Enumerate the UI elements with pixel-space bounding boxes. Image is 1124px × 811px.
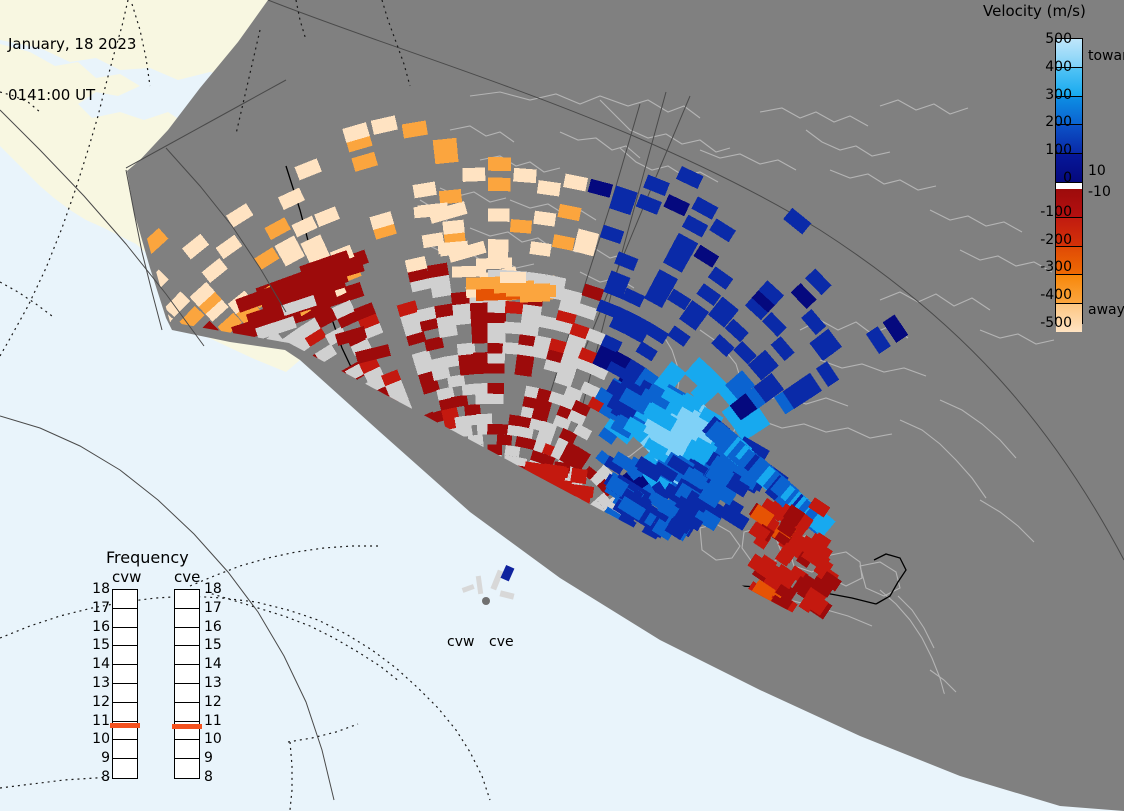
- colorbar-toward-label: toward: [1088, 49, 1124, 63]
- frequency-tick-label: 18: [88, 582, 110, 596]
- frequency-tick-label: 9: [204, 751, 226, 765]
- site-label-cve: cve: [489, 634, 514, 650]
- frequency-tick-label: 17: [204, 601, 226, 615]
- frequency-tick-label: 8: [204, 770, 226, 784]
- timestamp: January, 18 2023 0141:00 UT: [8, 2, 136, 138]
- frequency-tick-label: 8: [88, 770, 110, 784]
- frequency-bar-cvw: [112, 589, 138, 779]
- frequency-tick-label: 16: [204, 620, 226, 634]
- frequency-segment: [175, 609, 199, 628]
- frequency-segment: [175, 684, 199, 703]
- velocity-cell: [488, 178, 511, 192]
- frequency-tick-label: 12: [204, 695, 226, 709]
- velocity-cell: [487, 362, 504, 373]
- frequency-segment: [175, 646, 199, 665]
- radar-site-dot: [482, 597, 490, 605]
- frequency-bar-cve: [174, 589, 200, 779]
- frequency-tick-label: 9: [88, 751, 110, 765]
- frequency-tick-label: 12: [88, 695, 110, 709]
- frequency-tick-label: 10: [204, 732, 226, 746]
- frequency-marker-cve: [172, 724, 202, 729]
- colorbar-tick: -100: [1028, 205, 1072, 219]
- frequency-segment: [113, 609, 137, 628]
- frequency-segment: [175, 665, 199, 684]
- colorbar-tick: 400: [1028, 60, 1072, 74]
- velocity-cell: [439, 189, 462, 205]
- velocity-cell: [522, 285, 556, 297]
- colorbar-tick: 500: [1028, 32, 1072, 46]
- frequency-tick-label: 14: [204, 657, 226, 671]
- frequency-segment: [175, 759, 199, 778]
- time-text: 0141:00 UT: [8, 87, 136, 104]
- velocity-cell: [504, 445, 520, 457]
- velocity-cell: [570, 468, 587, 484]
- frequency-tick-label: 13: [204, 676, 226, 690]
- colorbar-tick: -300: [1028, 260, 1072, 274]
- velocity-cell: [510, 219, 532, 234]
- velocity-cell: [476, 414, 492, 425]
- velocity-cell: [488, 239, 509, 252]
- velocity-cell: [488, 157, 511, 171]
- velocity-cell: [540, 466, 556, 480]
- frequency-tick-label: 17: [88, 601, 110, 615]
- colorbar-title: Velocity (m/s): [983, 2, 1123, 20]
- velocity-cell: [487, 352, 504, 364]
- frequency-tick-label: 18: [204, 582, 226, 596]
- frequency-segment: [175, 703, 199, 722]
- frequency-marker-cvw: [110, 723, 140, 728]
- velocity-cell: [442, 220, 464, 235]
- velocity-cell: [457, 342, 476, 355]
- colorbar-tick: -500: [1028, 316, 1072, 330]
- velocity-cell: [476, 257, 512, 269]
- colorbar-lower-threshold-label: -10: [1088, 185, 1111, 199]
- velocity-cell: [488, 332, 506, 344]
- colorbar-tick: -200: [1028, 233, 1072, 247]
- colorbar-tick: 300: [1028, 88, 1072, 102]
- frequency-segment: [113, 628, 137, 647]
- colorbar-upper-threshold-label: 10: [1088, 164, 1106, 178]
- velocity-cell: [497, 434, 513, 445]
- site-label-cvw: cvw: [447, 634, 474, 650]
- frequency-tick-label: 14: [88, 657, 110, 671]
- velocity-cell: [513, 168, 537, 183]
- colorbar-away-label: away: [1088, 303, 1124, 317]
- frequency-tick-label: 15: [88, 638, 110, 652]
- frequency-tick-label: 13: [88, 676, 110, 690]
- velocity-cell: [500, 272, 526, 283]
- frequency-tick-label: 11: [204, 714, 226, 728]
- velocity-cell: [433, 138, 458, 154]
- frequency-column-label-cvw: cvw: [112, 568, 141, 586]
- frequency-segment: [113, 740, 137, 759]
- velocity-map-figure: January, 18 2023 0141:00 UT Velocity (m/…: [0, 0, 1124, 811]
- frequency-segment: [175, 590, 199, 609]
- colorbar-tick: -400: [1028, 288, 1072, 302]
- frequency-segment: [113, 590, 137, 609]
- frequency-legend: Frequency cvw cve 18171615141312111098 1…: [88, 548, 240, 796]
- frequency-segment: [175, 740, 199, 759]
- date-text: January, 18 2023: [8, 36, 136, 53]
- velocity-cell: [487, 393, 503, 404]
- frequency-tick-label: 10: [88, 732, 110, 746]
- frequency-segment: [113, 759, 137, 778]
- velocity-colorbar: Velocity (m/s) 5004003002001000-100-200-…: [975, 0, 1124, 340]
- velocity-cell: [505, 301, 525, 314]
- frequency-tick-label: 11: [88, 714, 110, 728]
- velocity-cell: [462, 167, 485, 182]
- colorbar-tick: 100: [1028, 143, 1072, 157]
- frequency-segment: [113, 684, 137, 703]
- frequency-tick-label: 16: [88, 620, 110, 634]
- frequency-segment: [113, 646, 137, 665]
- frequency-legend-title: Frequency: [106, 548, 189, 567]
- velocity-cell: [464, 404, 481, 416]
- frequency-segment: [113, 665, 137, 684]
- colorbar-tick: 200: [1028, 115, 1072, 129]
- velocity-cell: [488, 208, 510, 221]
- frequency-column-label-cve: cve: [174, 568, 200, 586]
- velocity-cell: [487, 383, 504, 394]
- frequency-segment: [175, 628, 199, 647]
- velocity-cell: [503, 322, 522, 335]
- colorbar-tick: 0: [1028, 171, 1072, 185]
- frequency-segment: [113, 703, 137, 722]
- frequency-tick-label: 15: [204, 638, 226, 652]
